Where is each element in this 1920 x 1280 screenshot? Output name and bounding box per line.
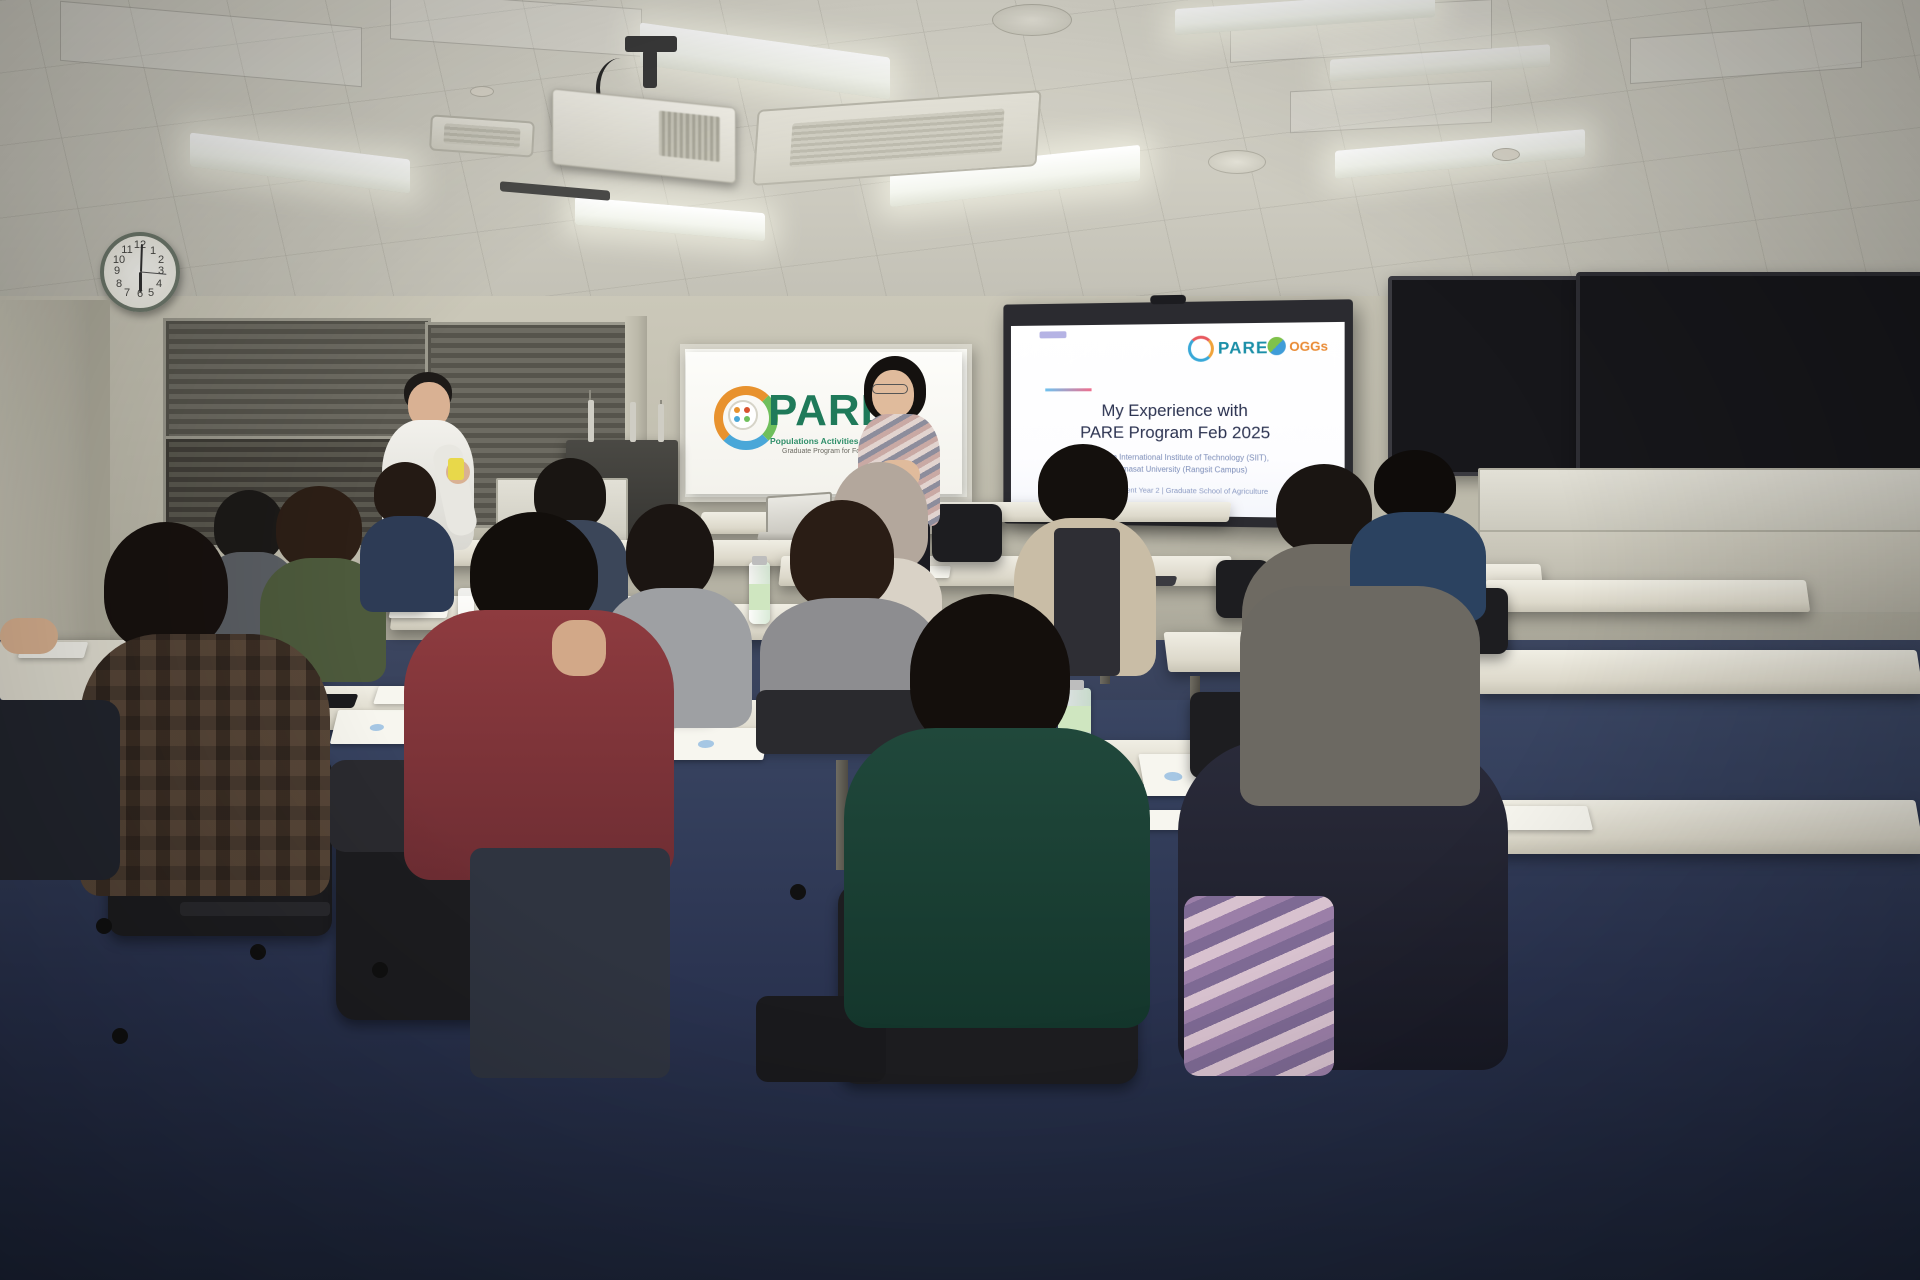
hair	[1374, 450, 1456, 520]
chair-wheel-icon	[96, 918, 112, 934]
glasses-icon	[872, 384, 908, 394]
window-left	[163, 318, 431, 444]
microphone-icon	[658, 404, 664, 442]
hair	[104, 522, 228, 652]
slide-title-line1: My Experience with	[1011, 400, 1345, 422]
pare-dot	[734, 407, 740, 413]
slide-oggs-logo: OGGs	[1268, 336, 1328, 355]
held-object	[448, 458, 464, 480]
clock-minute-hand	[140, 244, 143, 272]
hair	[374, 462, 436, 524]
bottle-label	[749, 584, 770, 610]
hand	[0, 618, 58, 654]
projector-vent	[659, 111, 721, 162]
chair-wheel-icon	[250, 944, 266, 960]
clock-numeral: 3	[154, 265, 168, 277]
paper-sticker	[1163, 772, 1183, 781]
slide-pare-logo: PARE	[1188, 335, 1269, 362]
pare-dot	[744, 407, 750, 413]
pare-logo-icon	[1188, 336, 1214, 362]
slide-accent-rule	[1045, 388, 1091, 391]
oggs-globe-icon	[1268, 337, 1286, 355]
hair	[790, 500, 894, 610]
microphone-icon	[630, 402, 636, 442]
smoke-detector-icon	[1492, 148, 1520, 161]
pare-logo-center	[728, 400, 758, 430]
clock-numeral: 9	[110, 265, 124, 277]
torso	[0, 700, 120, 880]
classroom-scene: 12 3 6 9 1 2 4 5 7 8 10 11	[0, 0, 1920, 1280]
slide-oggs-logo-text: OGGs	[1289, 338, 1328, 354]
legs	[470, 848, 670, 1078]
ceiling-speaker-icon	[1208, 150, 1266, 174]
secondary-display[interactable]	[1388, 276, 1580, 476]
secondary-display-right[interactable]	[1576, 272, 1920, 482]
clock-numeral: 8	[112, 278, 126, 290]
microphone-icon	[588, 400, 594, 442]
torso	[404, 610, 674, 880]
torso	[360, 516, 454, 612]
chair-wheel-icon	[372, 962, 388, 978]
window-blinds	[169, 324, 425, 438]
chair-wheel-icon	[112, 1028, 128, 1044]
clock-numeral: 2	[154, 254, 168, 266]
scarf	[1184, 896, 1334, 1076]
slide-title-line2: PARE Program Feb 2025	[1011, 422, 1345, 444]
torso	[844, 728, 1150, 1028]
display-camera-icon	[1150, 295, 1186, 305]
paper-sticker	[369, 724, 385, 731]
pare-dot	[744, 416, 750, 422]
clock-numeral: 11	[120, 244, 134, 256]
water-bottle-icon[interactable]	[749, 562, 770, 624]
torso	[1240, 586, 1480, 806]
handout-papers-icon[interactable]	[669, 728, 769, 760]
bottle-cap	[752, 556, 767, 565]
ceiling-speaker-icon	[992, 4, 1072, 36]
handout-papers-icon[interactable]	[1497, 806, 1593, 830]
chair-base	[180, 902, 330, 916]
display-input-badge	[1040, 331, 1067, 338]
chair[interactable]	[932, 504, 1002, 562]
desk	[1471, 650, 1920, 694]
clock-numeral: 5	[144, 287, 158, 299]
slide-pare-logo-text: PARE	[1218, 338, 1269, 359]
hair	[1038, 444, 1128, 528]
air-conditioner-icon	[429, 114, 535, 157]
hair	[626, 504, 714, 600]
clock-icon: 12 3 6 9 1 2 4 5 7 8 10 11	[100, 232, 180, 312]
desk	[1486, 580, 1810, 612]
smoke-detector-icon	[470, 86, 494, 97]
hand	[552, 620, 606, 676]
chair-wheel-icon	[790, 884, 806, 900]
clock-hour-hand	[139, 272, 142, 292]
head	[872, 370, 914, 418]
pare-dot	[734, 416, 740, 422]
paper-sticker	[697, 740, 714, 748]
